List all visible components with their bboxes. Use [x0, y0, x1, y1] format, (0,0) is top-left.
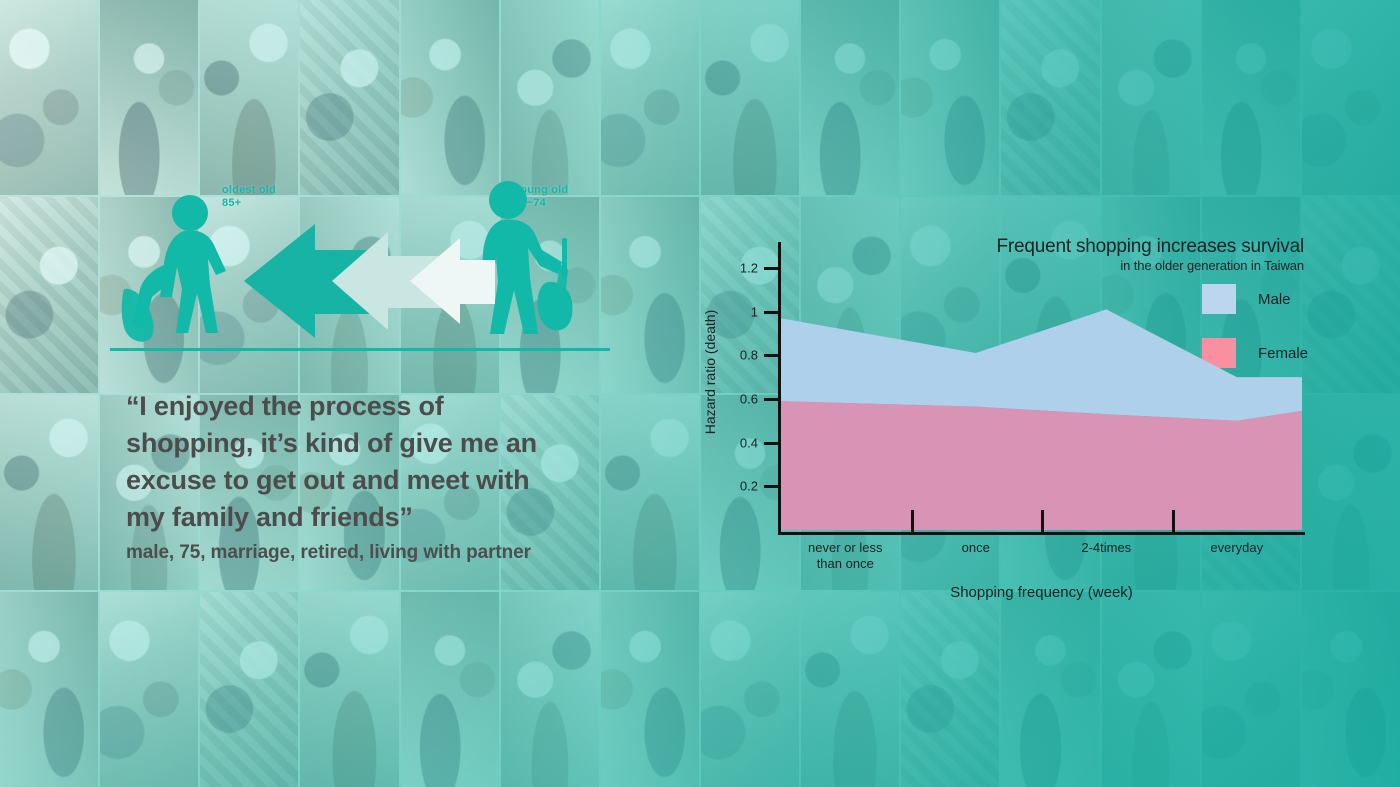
- aging-pictogram-group: oldest old 85+ young old 65~74: [110, 165, 635, 355]
- quote-attribution: male, 75, marriage, retired, living with…: [126, 542, 646, 564]
- chart-y-tick: [764, 267, 781, 270]
- collage-photo: [901, 0, 999, 195]
- chart-y-tick-label: 0.4: [712, 435, 758, 450]
- hazard-ratio-area-chart: Frequent shopping increases survival in …: [712, 222, 1312, 577]
- collage-photo: [901, 592, 999, 787]
- chart-y-tick-label: 1: [712, 304, 758, 319]
- chart-y-tick-label-wrap: 0.2: [712, 486, 758, 501]
- collage-photo: [601, 592, 699, 787]
- quote-line-3: excuse to get out and meet with: [126, 462, 646, 499]
- collage-photo: [1102, 592, 1200, 787]
- collage-photo: [100, 592, 198, 787]
- collage-photo: [1302, 395, 1400, 590]
- collage-photo: [1302, 592, 1400, 787]
- chart-y-tick: [764, 311, 781, 314]
- testimonial-quote: “I enjoyed the process of shopping, it’s…: [126, 388, 646, 564]
- collage-photo: [801, 0, 899, 195]
- quote-line-1: “I enjoyed the process of: [126, 388, 646, 425]
- chart-x-tick-label: once: [962, 540, 990, 556]
- collage-photo: [0, 197, 98, 392]
- chart-y-tick-label-wrap: 0.8: [712, 355, 758, 370]
- chart-y-tick-label-wrap: 0.6: [712, 399, 758, 414]
- chart-y-tick: [764, 485, 781, 488]
- collage-photo: [701, 0, 799, 195]
- collage-photo: [1001, 592, 1099, 787]
- collage-photo: [1102, 0, 1200, 195]
- collage-photo: [801, 592, 899, 787]
- poster-canvas: oldest old 85+ young old 65~74: [0, 0, 1400, 787]
- chart-y-tick: [764, 354, 781, 357]
- quote-line-4: my family and friends”: [126, 499, 646, 536]
- collage-photo: [501, 592, 599, 787]
- chart-x-tick: [1172, 510, 1175, 535]
- chart-x-tick-label: never or less than once: [808, 540, 882, 572]
- chart-y-axis-line: [778, 242, 781, 534]
- oldest-old-figure-icon: [120, 193, 240, 353]
- chart-y-tick-label: 0.8: [712, 348, 758, 363]
- collage-photo: [1001, 0, 1099, 195]
- chart-y-tick: [764, 442, 781, 445]
- chart-y-tick-label-wrap: 0.4: [712, 443, 758, 458]
- collage-photo: [701, 592, 799, 787]
- chart-x-tick: [1041, 510, 1044, 535]
- quote-line-2: shopping, it’s kind of give me an: [126, 425, 646, 462]
- collage-photo: [0, 0, 98, 195]
- chart-y-tick-label: 0.6: [712, 391, 758, 406]
- chart-y-tick: [764, 398, 781, 401]
- chart-x-tick-label: everyday: [1210, 540, 1263, 556]
- collage-photo: [401, 592, 499, 787]
- collage-photo: [0, 592, 98, 787]
- pictogram-baseline: [110, 348, 610, 351]
- chart-y-tick-label-wrap: 1: [712, 312, 758, 327]
- chart-y-tick-label: 0.2: [712, 479, 758, 494]
- collage-photo: [300, 592, 398, 787]
- collage-photo: [200, 592, 298, 787]
- collage-photo: [0, 395, 98, 590]
- chart-x-tick-label: 2-4times: [1081, 540, 1131, 556]
- chart-x-tick: [911, 510, 914, 535]
- chart-y-tick-label: 1.2: [712, 260, 758, 275]
- collage-photo: [1202, 592, 1300, 787]
- chart-x-axis-title: Shopping frequency (week): [778, 584, 1305, 601]
- direction-arrows-icon: [240, 220, 495, 340]
- chart-y-tick-label-wrap: 1.2: [712, 268, 758, 283]
- chart-plot-area: [780, 246, 1302, 530]
- chart-y-axis-title: Hazard ratio (death): [702, 310, 718, 435]
- collage-photo: [1302, 0, 1400, 195]
- collage-photo: [1202, 0, 1300, 195]
- collage-photo: [1302, 197, 1400, 392]
